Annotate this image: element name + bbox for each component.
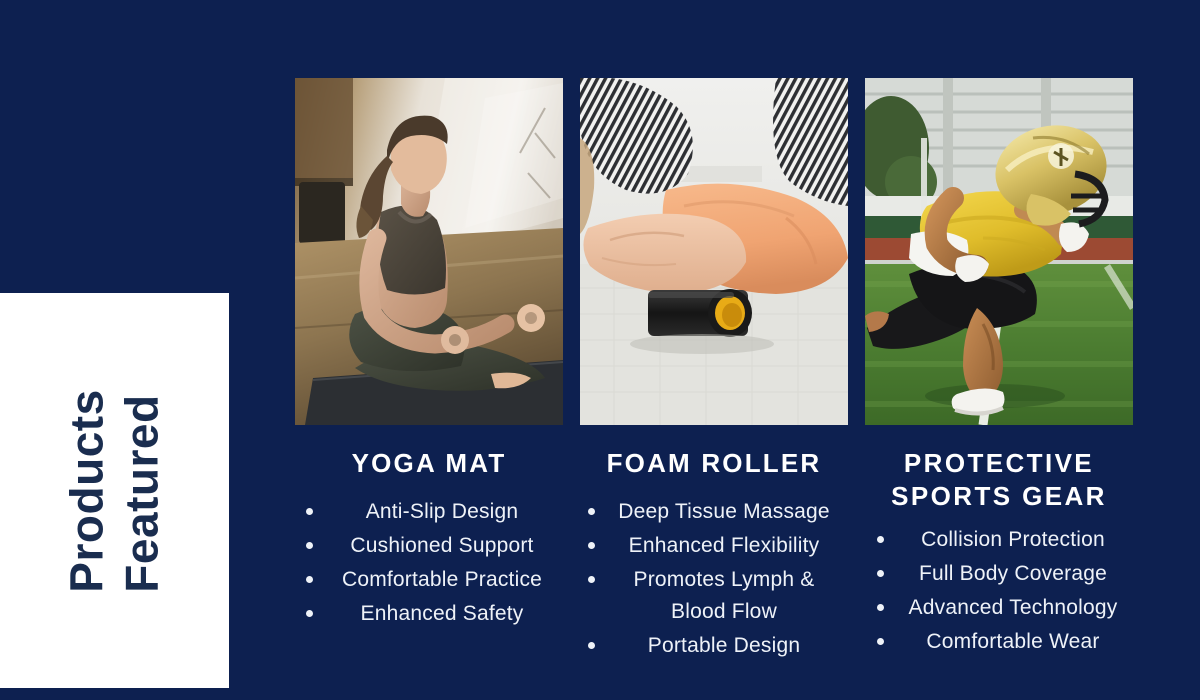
yoga-mat-photo [295, 78, 563, 425]
list-item: Enhanced Flexibility [579, 530, 847, 562]
feature-list: Deep Tissue Massage Enhanced Flexibility… [579, 496, 847, 664]
bullet-icon [306, 610, 313, 617]
feature-label: Portable Design [648, 634, 800, 657]
feature-list: Collision Protection Full Body Coverage … [868, 524, 1136, 660]
bullet-icon [877, 604, 884, 611]
featured-products-slide: Featured Products [0, 0, 1200, 700]
heading-line-featured: Featured [116, 394, 169, 592]
list-item: Anti-Slip Design [297, 496, 565, 528]
product-card-list: YOGA MAT Anti-Slip Design Cushioned Supp… [295, 78, 1133, 664]
feature-label: Advanced Technology [909, 596, 1118, 619]
product-card-yoga-mat[interactable]: YOGA MAT Anti-Slip Design Cushioned Supp… [295, 78, 563, 664]
list-item: Portable Design [579, 630, 847, 662]
bullet-icon [877, 570, 884, 577]
list-item: Full Body Coverage [868, 558, 1136, 590]
side-panel: Featured Products [0, 293, 229, 688]
bullet-icon [588, 508, 595, 515]
card-title: YOGA MAT [295, 447, 563, 480]
heading-line-products: Products [60, 389, 113, 592]
bullet-icon [306, 508, 313, 515]
list-item: Advanced Technology [868, 592, 1136, 624]
list-item: Cushioned Support [297, 530, 565, 562]
foam-roller-photo [580, 78, 848, 425]
product-card-foam-roller[interactable]: FOAM ROLLER Deep Tissue Massage Enhanced… [580, 78, 848, 664]
feature-label: Anti-Slip Design [366, 500, 519, 523]
feature-label: Deep Tissue Massage [618, 500, 830, 523]
product-card-protective-sports-gear[interactable]: PROTECTIVE SPORTS GEAR Collision Protect… [865, 78, 1133, 664]
bullet-icon [588, 576, 595, 583]
list-item: Comfortable Wear [868, 626, 1136, 658]
protective-sports-gear-photo [865, 78, 1133, 425]
list-item: Comfortable Practice [297, 564, 565, 596]
feature-label: Promotes Lymph & Blood Flow [634, 568, 815, 623]
feature-label: Cushioned Support [350, 534, 533, 557]
feature-label: Enhanced Flexibility [629, 534, 820, 557]
card-title: FOAM ROLLER [580, 447, 848, 480]
feature-label: Comfortable Practice [342, 568, 542, 591]
bullet-icon [877, 536, 884, 543]
bullet-icon [306, 542, 313, 549]
feature-label: Full Body Coverage [919, 562, 1107, 585]
bullet-icon [588, 542, 595, 549]
bullet-icon [588, 642, 595, 649]
side-panel-heading: Featured Products [60, 389, 169, 592]
bullet-icon [306, 576, 313, 583]
list-item: Collision Protection [868, 524, 1136, 556]
feature-label: Enhanced Safety [361, 602, 524, 625]
feature-label: Comfortable Wear [926, 630, 1099, 653]
feature-list: Anti-Slip Design Cushioned Support Comfo… [297, 496, 565, 632]
list-item: Enhanced Safety [297, 598, 565, 630]
bullet-icon [877, 638, 884, 645]
list-item: Promotes Lymph & Blood Flow [579, 564, 847, 628]
feature-label: Collision Protection [921, 528, 1105, 551]
card-title: PROTECTIVE SPORTS GEAR [865, 447, 1133, 512]
list-item: Deep Tissue Massage [579, 496, 847, 528]
